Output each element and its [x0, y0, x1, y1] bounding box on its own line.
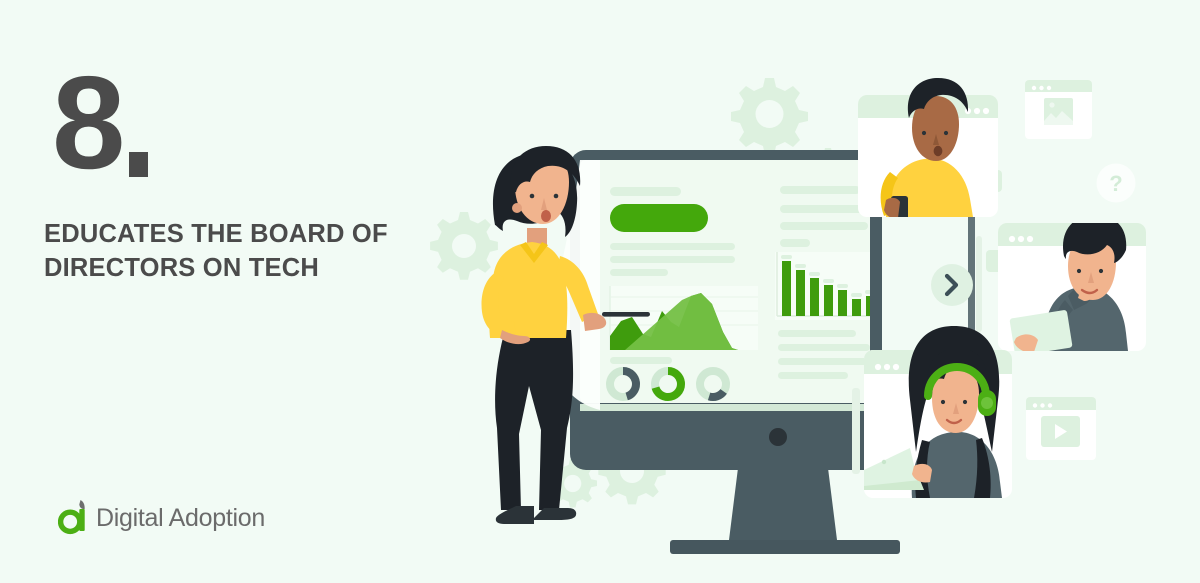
- digital-adoption-logo-mark: [58, 498, 94, 538]
- play-icon: [1041, 416, 1080, 447]
- bar: [796, 270, 805, 316]
- presenter-mouth: [541, 210, 551, 222]
- browser-dot: [893, 364, 899, 370]
- power-dot: [769, 428, 787, 446]
- monitor-chin-strip: [580, 404, 870, 411]
- gear-left: [430, 212, 498, 280]
- card2-eye: [1077, 269, 1081, 273]
- browser-dot: [983, 108, 989, 114]
- browser-dot: [1027, 236, 1033, 242]
- browser-dot: [1047, 86, 1051, 90]
- card1-eye: [944, 131, 948, 135]
- placeholder-bar: [610, 269, 668, 276]
- brand-logo[interactable]: Digital Adoption: [58, 498, 265, 538]
- brand-name: Digital Adoption: [96, 504, 265, 533]
- question-mark-glyph: ?: [1109, 171, 1122, 196]
- browser-card-video-placeholder: [1026, 397, 1096, 460]
- bar: [810, 278, 819, 316]
- browser-card-image-placeholder: [1025, 80, 1092, 139]
- image-icon: [1044, 98, 1073, 125]
- bar-label: [823, 279, 834, 283]
- placeholder-bar: [778, 358, 870, 365]
- placeholder-bar: [780, 205, 868, 213]
- placeholder-bar: [778, 330, 856, 337]
- placeholder-bar: [610, 357, 672, 364]
- browser-dot: [875, 364, 881, 370]
- list-number-square-dot: [129, 152, 148, 177]
- presenter-pants: [495, 330, 573, 510]
- monitor-stand: [728, 468, 838, 548]
- bar-label: [851, 293, 862, 297]
- bar-label: [781, 255, 792, 259]
- card1-mouth: [934, 146, 943, 156]
- presenter-eye: [530, 194, 535, 199]
- browser-dot: [974, 108, 980, 114]
- presenter-shoe: [532, 508, 576, 520]
- placeholder-bar: [610, 187, 681, 196]
- browser-dot: [1018, 236, 1024, 242]
- decor-strip: [976, 236, 982, 332]
- card2-eye: [1099, 269, 1103, 273]
- browser-dot: [1009, 236, 1015, 242]
- video-card-woman-headphones[interactable]: [862, 326, 1012, 498]
- presenter-eye: [554, 194, 559, 199]
- placeholder-bar: [780, 186, 860, 194]
- placeholder-bar: [778, 372, 848, 379]
- placeholder-bar: [610, 243, 735, 250]
- bar: [852, 299, 861, 316]
- bar-label: [795, 264, 806, 268]
- browser-dot: [1039, 86, 1043, 90]
- decor-strip: [852, 388, 860, 474]
- browser-dot: [1032, 86, 1036, 90]
- list-number-group: 8: [52, 62, 148, 183]
- bar: [782, 261, 791, 316]
- browser-dot: [884, 364, 890, 370]
- pointer-stick: [602, 312, 650, 317]
- bar-label: [893, 299, 904, 303]
- monitor-base: [670, 540, 900, 554]
- bar-chart: [775, 252, 904, 320]
- placeholder-bar: [780, 239, 810, 247]
- list-number: 8: [52, 62, 122, 183]
- card3-eye: [941, 400, 945, 404]
- question-mark-badge: ?: [1097, 164, 1136, 203]
- gear-large-top: [731, 78, 808, 155]
- page-title: Educates the Board of Directors on Tech: [44, 218, 464, 285]
- video-card-man-phone[interactable]: [858, 78, 998, 220]
- bar: [894, 305, 903, 316]
- bar-label: [809, 272, 820, 276]
- bar: [824, 285, 833, 316]
- poster-canvas: 8 Educates the Board of Directors on Tec…: [0, 0, 1200, 583]
- presenter-ear: [512, 203, 522, 213]
- placeholder-bar: [778, 344, 870, 351]
- browser-dot: [1040, 403, 1044, 407]
- dashboard-primary-button: [610, 204, 708, 232]
- browser-dot: [1048, 403, 1052, 407]
- bar: [838, 290, 847, 316]
- placeholder-bar: [610, 256, 735, 263]
- video-card-man-tablet[interactable]: [998, 215, 1146, 356]
- bar-label: [837, 284, 848, 288]
- next-chevron-button[interactable]: [931, 264, 973, 306]
- browser-dot: [1033, 403, 1037, 407]
- board-presentation-illustration: ?: [420, 0, 1200, 583]
- card3-eye: [963, 400, 967, 404]
- placeholder-bar: [780, 222, 868, 230]
- card1-eye: [922, 131, 926, 135]
